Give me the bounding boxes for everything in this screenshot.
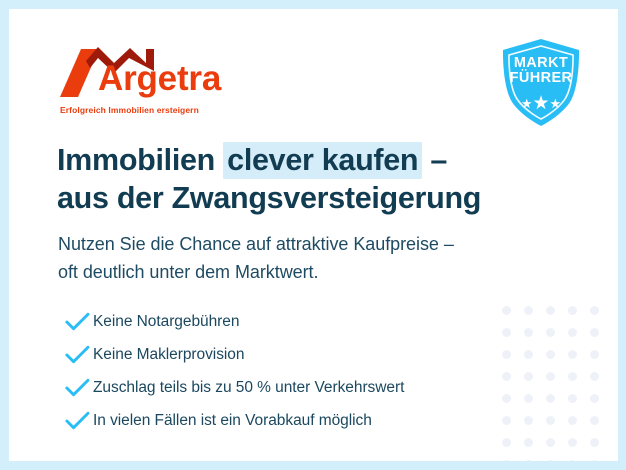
decoration-dot [566,326,588,348]
markt-fuehrer-badge: MARKT FÜHRER ★★★ [500,38,582,128]
list-item: Keine Notargebühren [63,305,523,338]
decoration-dot [588,326,610,348]
star-icon: ★ [532,93,549,114]
decoration-dot [544,370,566,392]
banner-card: Argetra Erfolgreich Immobilien ersteiger… [9,9,618,461]
list-item: Zuschlag teils bis zu 50 % unter Verkehr… [63,371,523,404]
badge-star-rating: ★★★ [500,94,582,113]
check-icon [63,378,93,398]
decoration-dot [500,458,522,461]
decoration-dot [522,436,544,458]
decoration-dot [588,414,610,436]
decoration-dot [522,370,544,392]
badge-text: MARKT FÜHRER [500,56,582,86]
star-icon: ★ [550,96,562,111]
decoration-dot [566,370,588,392]
decoration-dot [544,436,566,458]
decoration-dot [566,304,588,326]
list-item-label: In vielen Fällen ist ein Vorabkauf mögli… [93,413,372,429]
decoration-dot [588,392,610,414]
decoration-dot [588,348,610,370]
decoration-dot [544,392,566,414]
headline-text-after: – [422,143,447,177]
decoration-dot [522,458,544,461]
decoration-dot [500,436,522,458]
decoration-dot [522,392,544,414]
decoration-dot [566,414,588,436]
decoration-dot [566,348,588,370]
headline-text-before: Immobilien [57,143,223,177]
decoration-dot [522,326,544,348]
decoration-dot [588,370,610,392]
headline-highlight: clever kaufen [223,142,422,179]
promo-banner: Argetra Erfolgreich Immobilien ersteiger… [0,0,626,470]
subheading-line-2: oft deutlich unter dem Marktwert. [58,259,578,287]
decoration-dot [588,436,610,458]
decoration-dot [544,348,566,370]
headline-line-2: aus der Zwangsversteigerung [57,179,557,217]
decoration-dot [544,458,566,461]
argetra-logo[interactable]: Argetra Erfolgreich Immobilien ersteiger… [58,47,258,119]
check-icon [63,345,93,365]
subheading: Nutzen Sie die Chance auf attraktive Kau… [58,231,578,287]
check-icon [63,312,93,332]
decoration-dot [566,436,588,458]
benefit-list: Keine NotargebührenKeine Maklerprovision… [63,305,523,437]
decoration-dot [544,304,566,326]
logo-tagline: Erfolgreich Immobilien ersteigern [60,105,199,115]
check-icon [63,411,93,431]
badge-line-2: FÜHRER [500,71,582,86]
decoration-dot [522,414,544,436]
decoration-dot [566,458,588,461]
star-icon: ★ [521,96,533,111]
decoration-dot [588,304,610,326]
page-title: Immobilien clever kaufen – aus der Zwang… [57,141,557,218]
list-item-label: Keine Maklerprovision [93,347,244,363]
list-item: Keine Maklerprovision [63,338,523,371]
decoration-dot [544,414,566,436]
decoration-dot [566,392,588,414]
decoration-dot [588,458,610,461]
decoration-dot [522,304,544,326]
list-item: In vielen Fällen ist ein Vorabkauf mögli… [63,404,523,437]
decoration-dot [522,348,544,370]
logo-wordmark: Argetra [98,61,221,96]
badge-line-1: MARKT [500,56,582,71]
list-item-label: Keine Notargebühren [93,314,239,330]
subheading-line-1: Nutzen Sie die Chance auf attraktive Kau… [58,231,578,259]
headline-line-1: Immobilien clever kaufen – [57,141,557,179]
decoration-dot [544,326,566,348]
list-item-label: Zuschlag teils bis zu 50 % unter Verkehr… [93,380,404,396]
